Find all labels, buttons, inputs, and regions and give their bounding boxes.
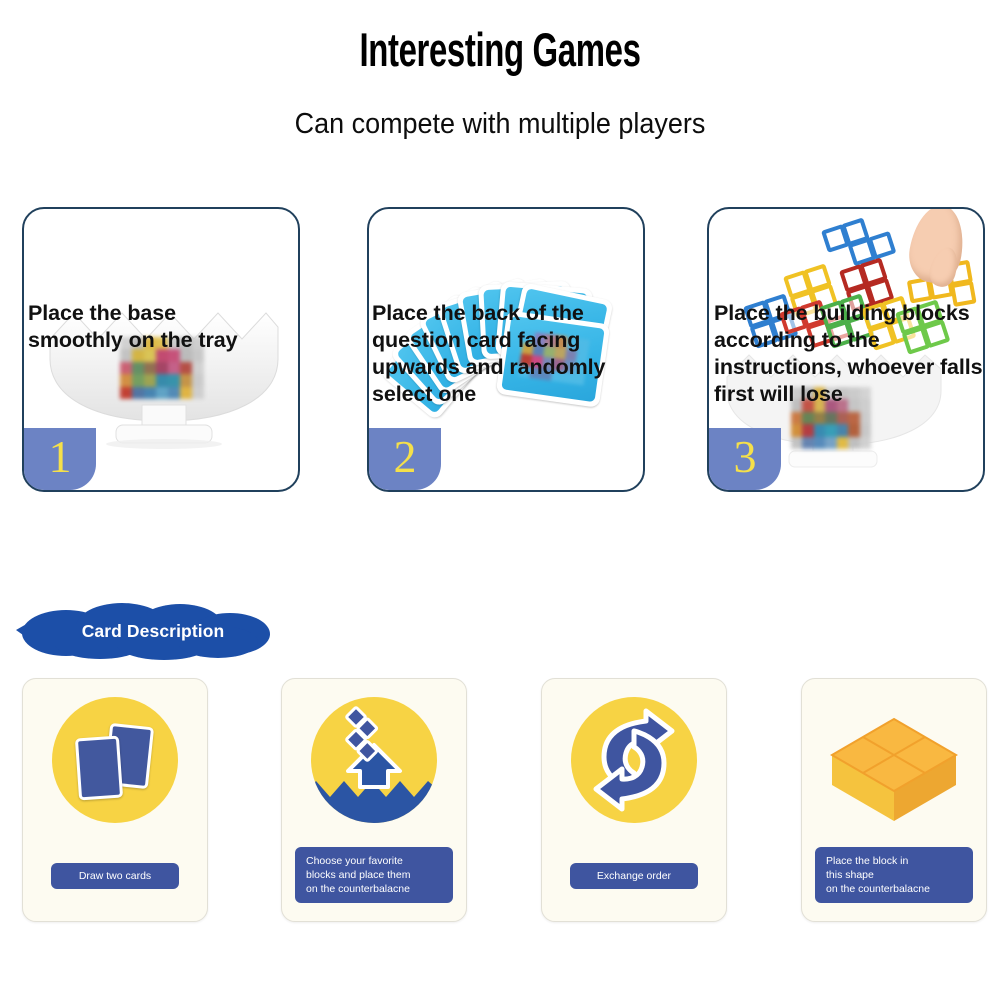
step-3-caption: Place the building blocks according to t…	[714, 300, 992, 408]
block-onto-balance-icon	[282, 685, 466, 851]
isometric-square-block-icon	[802, 685, 986, 851]
exchange-arrows-icon	[542, 685, 726, 851]
description-card-choose-blocks[interactable]: Choose your favorite blocks and place th…	[281, 678, 467, 922]
page-title: Interesting Games	[150, 24, 850, 76]
description-card-exchange-order[interactable]: Exchange order	[541, 678, 727, 922]
step-3-number-badge: 3	[709, 428, 781, 490]
card-4-label: Place the block in this shape on the cou…	[815, 847, 973, 903]
card-3-artwork	[542, 685, 726, 851]
card-3-label: Exchange order	[570, 863, 698, 889]
card-1-artwork	[23, 685, 207, 851]
step-2-number-badge: 2	[369, 428, 441, 490]
two-cards-icon-back	[75, 736, 123, 801]
card-1-label: Draw two cards	[51, 863, 179, 889]
page-subtitle: Can compete with multiple players	[35, 107, 965, 141]
card-description-banner: Card Description	[14, 600, 286, 662]
card-2-label: Choose your favorite blocks and place th…	[295, 847, 453, 903]
description-card-draw-two-cards[interactable]: Draw two cards	[22, 678, 208, 922]
card-2-artwork	[282, 685, 466, 851]
step-1-caption: Place the base smoothly on the tray	[28, 300, 268, 354]
description-card-place-block-shape[interactable]: Place the block in this shape on the cou…	[801, 678, 987, 922]
step-1-number-badge: 1	[24, 428, 96, 490]
card-4-artwork	[802, 685, 986, 851]
card-description-label: Card Description	[14, 600, 286, 662]
step-2-caption: Place the back of the question card faci…	[372, 300, 632, 408]
